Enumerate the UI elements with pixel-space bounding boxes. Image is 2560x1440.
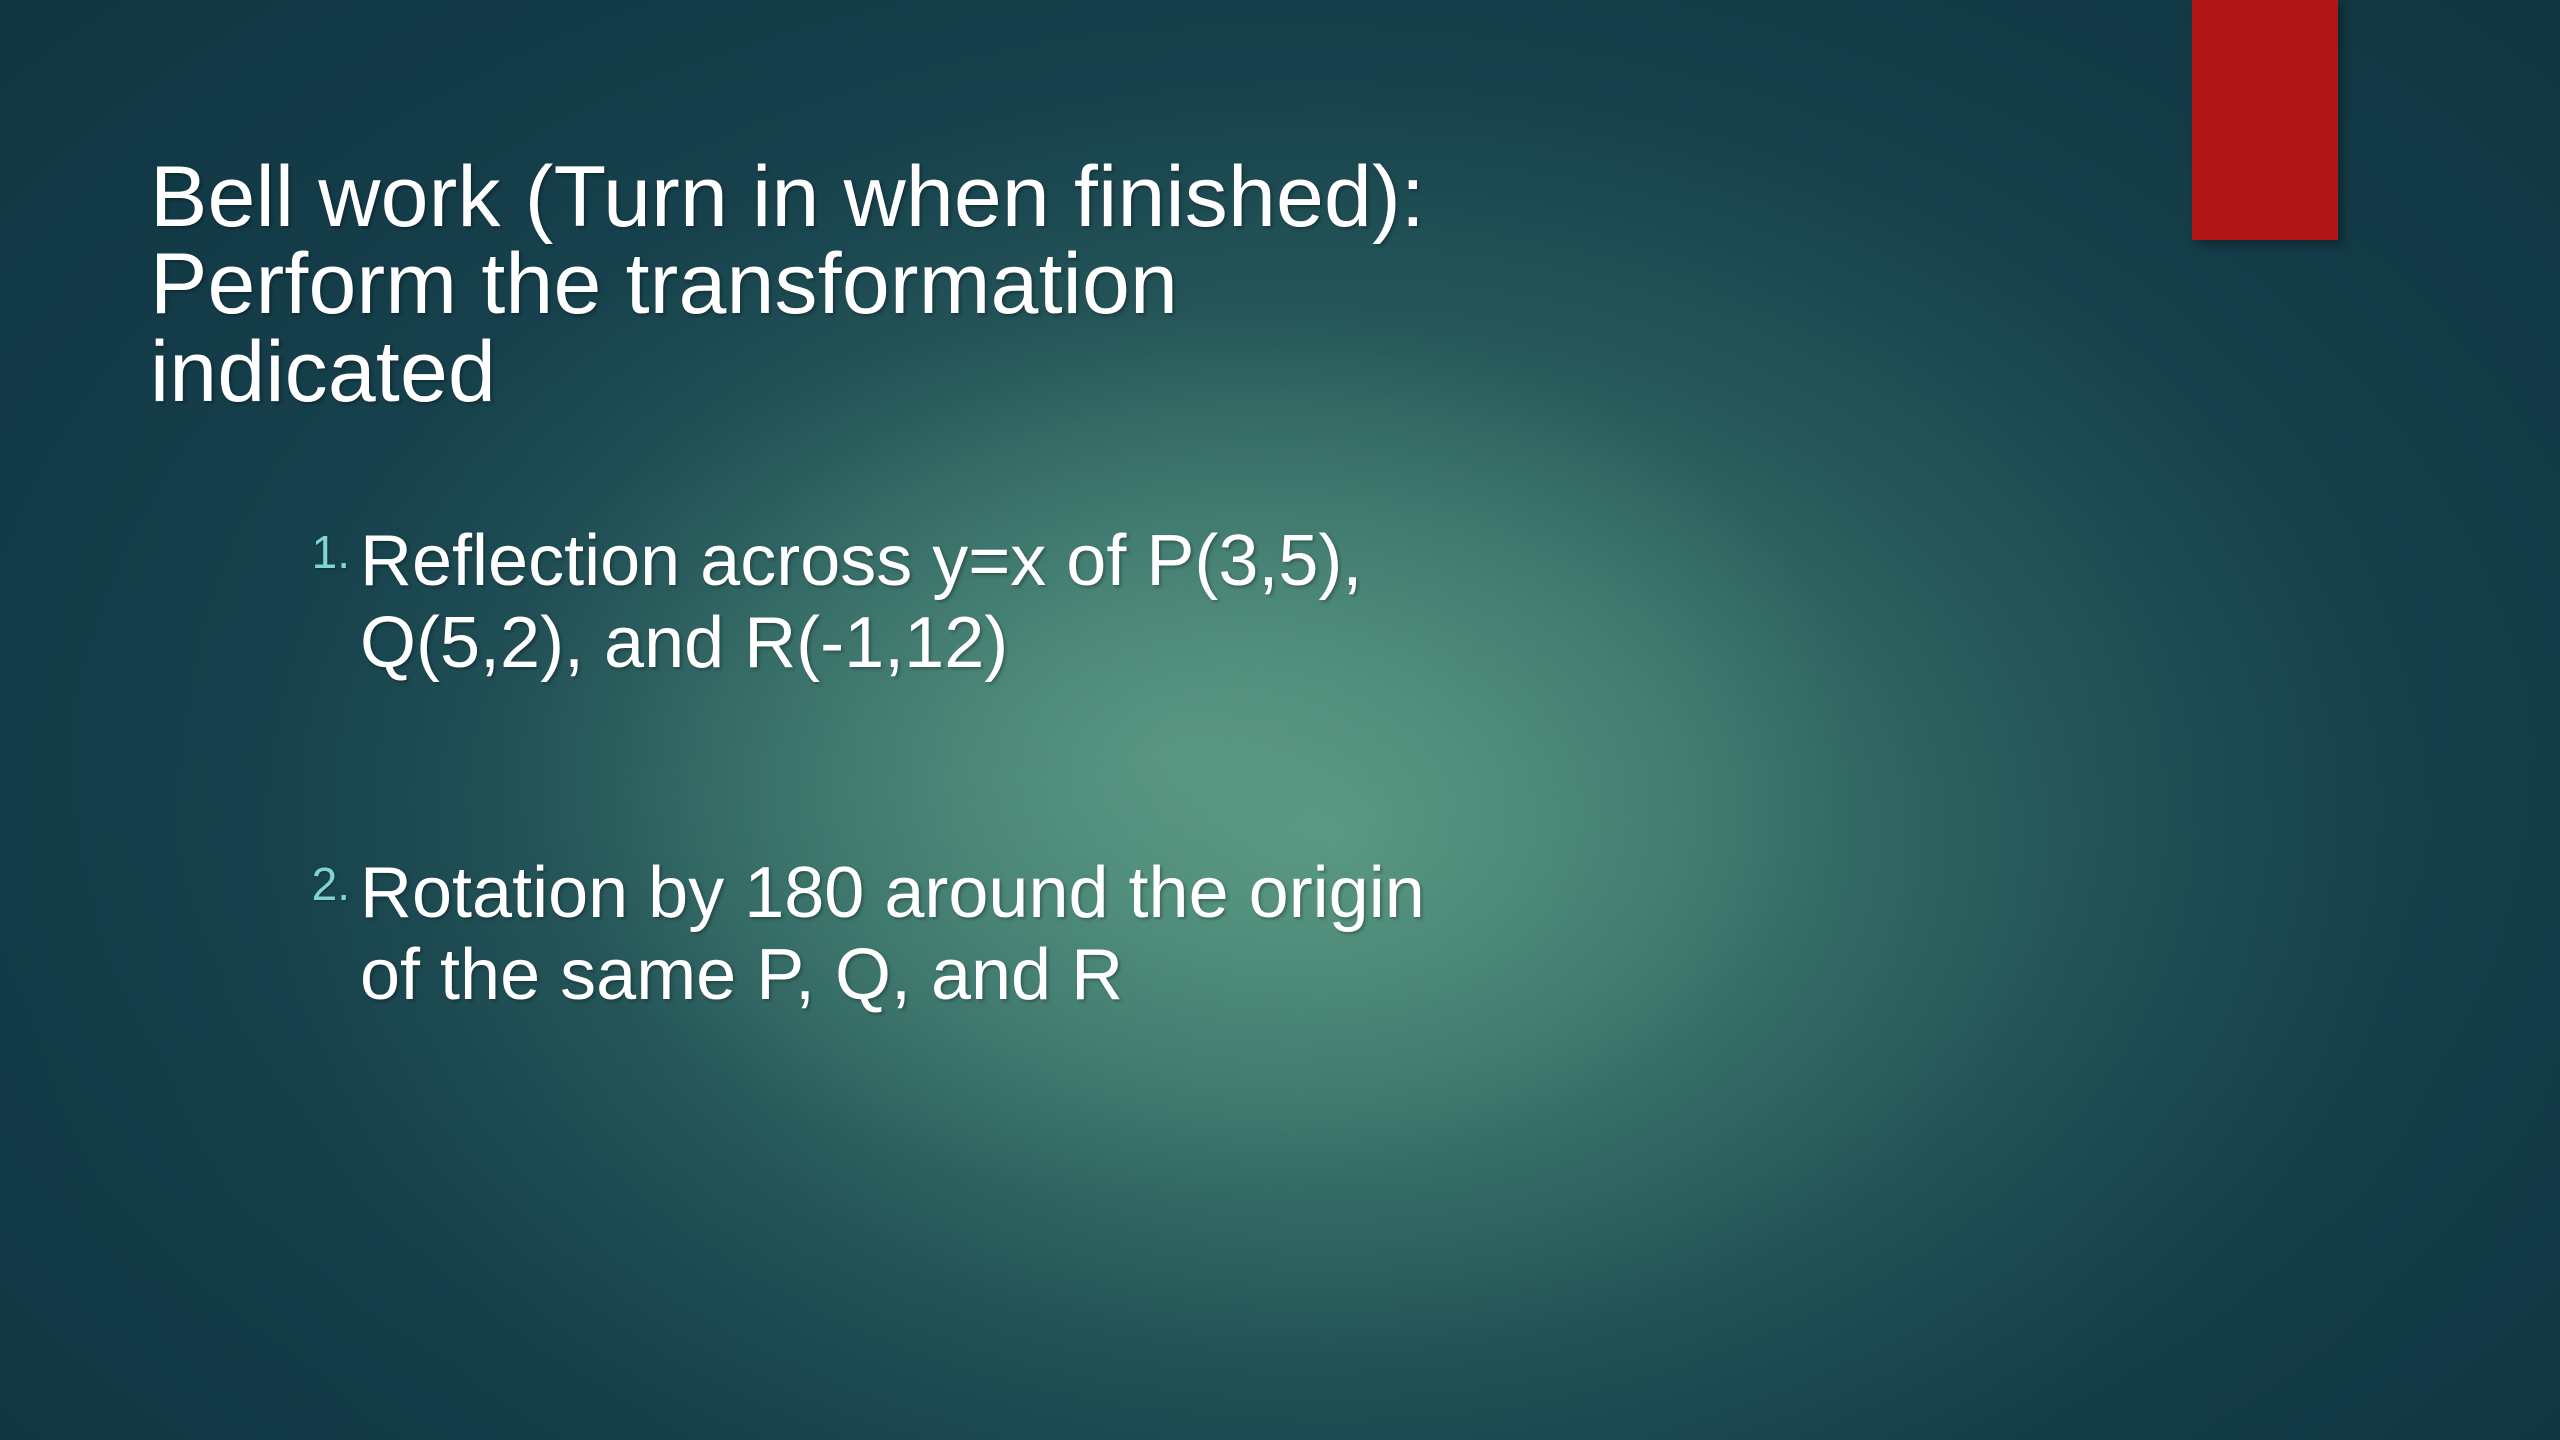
presentation-slide: Bell work (Turn in when finished): Perfo… bbox=[0, 0, 2560, 1440]
slide-content: Bell work (Turn in when finished): Perfo… bbox=[0, 0, 2560, 1440]
list-item-line: Reflection across y=x of P(3,5), bbox=[360, 520, 2150, 602]
numbered-list: 1. Reflection across y=x of P(3,5), Q(5,… bbox=[150, 520, 2150, 1016]
list-item-marker: 2. bbox=[260, 858, 350, 910]
list-item-line: of the same P, Q, and R bbox=[360, 934, 2150, 1016]
list-item-line: Q(5,2), and R(-1,12) bbox=[360, 602, 2150, 684]
list-item-marker: 1. bbox=[260, 526, 350, 578]
title-line-3: indicated bbox=[150, 329, 2050, 417]
list-item: 2. Rotation by 180 around the origin of … bbox=[150, 852, 2150, 1016]
title-line-1: Bell work (Turn in when finished): bbox=[150, 154, 2050, 242]
list-item-text: Reflection across y=x of P(3,5), Q(5,2),… bbox=[360, 520, 2150, 684]
title-line-2: Perform the transformation bbox=[150, 241, 2050, 329]
slide-title: Bell work (Turn in when finished): Perfo… bbox=[150, 154, 2050, 417]
list-item: 1. Reflection across y=x of P(3,5), Q(5,… bbox=[150, 520, 2150, 684]
list-item-line: Rotation by 180 around the origin bbox=[360, 852, 2150, 934]
list-item-text: Rotation by 180 around the origin of the… bbox=[360, 852, 2150, 1016]
